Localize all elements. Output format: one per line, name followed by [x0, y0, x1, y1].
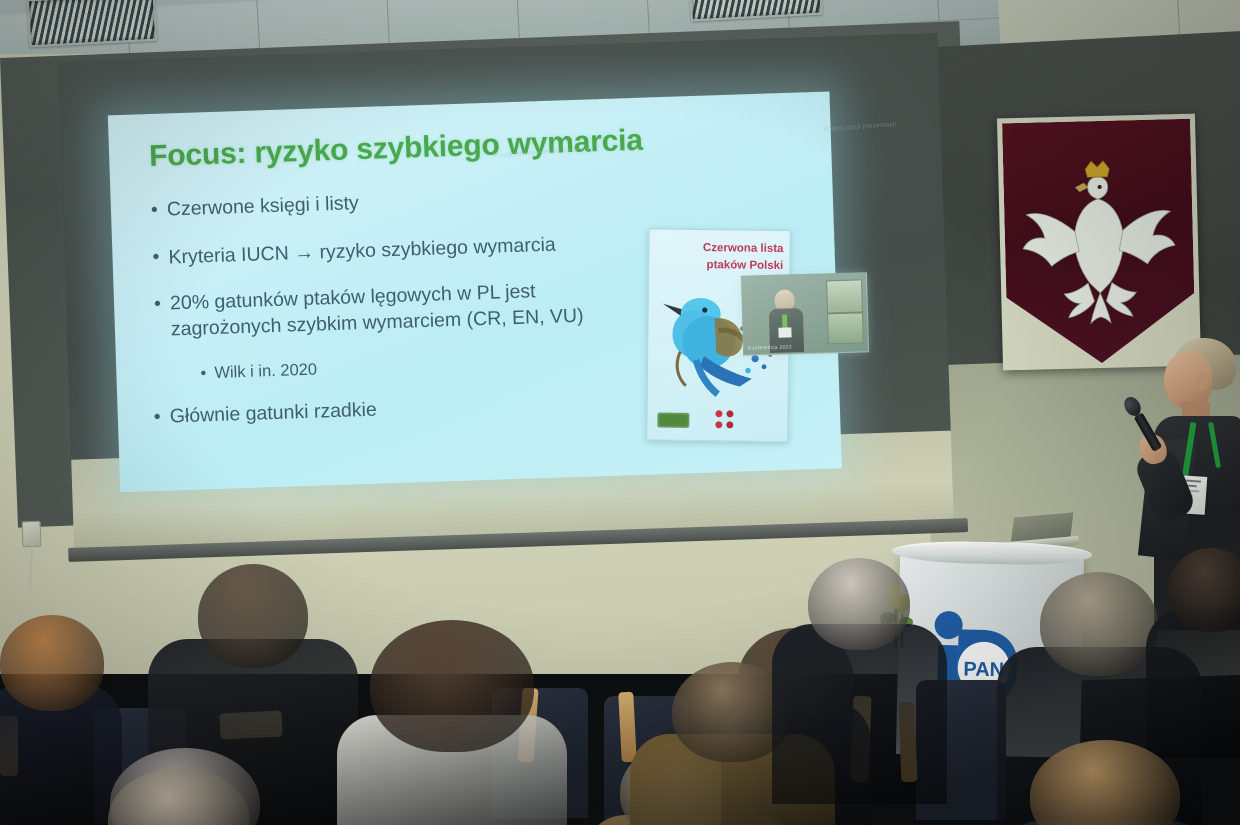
audience-head: [198, 564, 308, 668]
bullet-text: Czerwone księgi i listy: [167, 191, 360, 223]
bullet-text-with-arrow: Kryteria IUCN → ryzyko szybkiego wymarci…: [168, 231, 556, 271]
bullet-text-before-arrow: Kryteria IUCN: [168, 242, 294, 268]
audience-head: [0, 615, 104, 711]
book-cover-logos: [657, 410, 741, 431]
bullet-marker-icon: •: [153, 404, 170, 430]
person-in-feed: [768, 289, 804, 352]
audience-head: [370, 620, 534, 752]
bullet-text: Głównie gatunki rzadkie: [169, 397, 377, 430]
bullet-marker-icon: •: [200, 363, 215, 385]
audience-head: [1040, 572, 1158, 676]
bullet-text: Wilk i in. 2020: [214, 360, 317, 385]
golden-crown-icon: [1085, 161, 1109, 178]
white-eagle-icon: [1013, 145, 1186, 339]
window-in-feed: [826, 279, 864, 344]
bullet-marker-icon: •: [151, 197, 168, 223]
book-title-line-1: Czerwona lista: [703, 242, 784, 255]
publisher-logo-red: [715, 410, 741, 430]
feed-caption: Konferencja 2022: [748, 344, 792, 351]
emblem-shield: [1002, 119, 1196, 366]
audience-torso: [1146, 608, 1240, 758]
book-title-line-2: ptaków Polski: [707, 259, 784, 272]
speaker-ear: [1196, 374, 1208, 390]
presentation-slide: Focus: ryzyko szybkiego wymarcia • Czerw…: [108, 91, 842, 492]
audience-head: [808, 558, 910, 650]
audience-torso: [772, 624, 947, 804]
speaker-video-feed: Konferencja 2022: [741, 272, 869, 355]
ceiling-vent: [27, 0, 157, 47]
bullet-marker-icon: •: [154, 292, 172, 344]
bullet-text-after-arrow: ryzyko szybkiego wymarcia: [314, 233, 556, 263]
seated-audience: [0, 520, 1240, 825]
bullet-item-1: • Czerwone księgi i listy: [151, 176, 809, 224]
publisher-logo-green: [657, 412, 689, 427]
bullet-marker-icon: •: [152, 244, 169, 271]
slide-title: Focus: ryzyko szybkiego wymarcia: [149, 118, 808, 174]
feed-badge: [778, 327, 791, 337]
presentation-room-photo: Focus: ryzyko szybkiego wymarcia • Czerw…: [0, 0, 1240, 825]
audience-head: [1168, 548, 1240, 632]
arrow-icon: →: [294, 241, 315, 264]
book-cover-title: Czerwona lista ptaków Polski: [665, 240, 783, 275]
bullet-text-multiline: 20% gatunków ptaków lęgowych w PL jest z…: [170, 278, 584, 343]
